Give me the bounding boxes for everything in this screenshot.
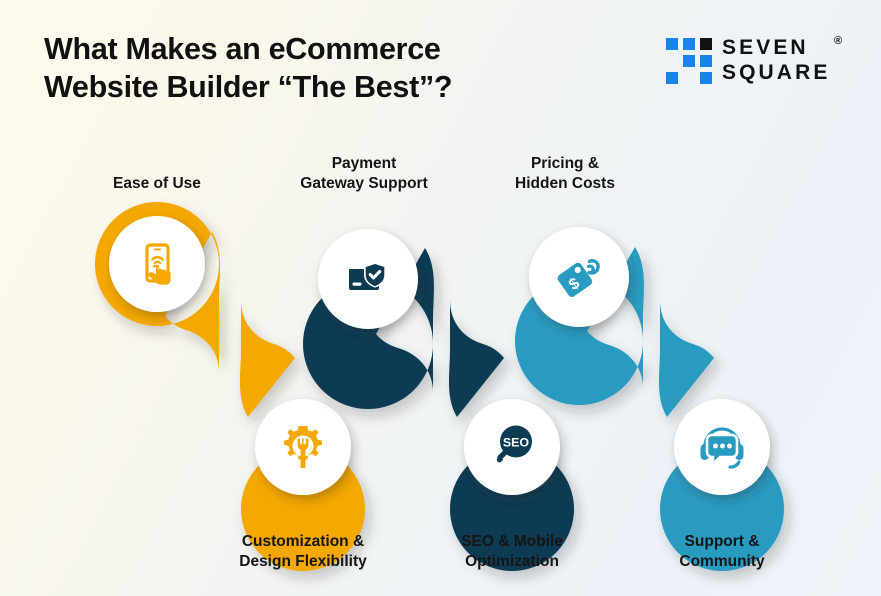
logo-square-3 bbox=[683, 55, 695, 67]
label-support: Support & Community bbox=[642, 532, 802, 572]
label-pricing: Pricing & Hidden Costs bbox=[484, 154, 646, 194]
brand-logo: SEVEN SQUARE ® bbox=[666, 35, 846, 90]
price-tag-dollar-icon: $ bbox=[549, 247, 609, 307]
logo-square-6 bbox=[700, 72, 712, 84]
header: What Makes an eCommerce Website Builder … bbox=[0, 0, 881, 120]
page-title: What Makes an eCommerce Website Builder … bbox=[44, 30, 564, 106]
card-shield-check-icon bbox=[338, 249, 398, 309]
label-ease-of-use: Ease of Use bbox=[77, 174, 237, 194]
logo-wordmark: SEVEN SQUARE bbox=[722, 35, 852, 87]
headset-chat-icon bbox=[692, 417, 752, 477]
label-customization: Customization & Design Flexibility bbox=[203, 532, 403, 572]
logo-square-1 bbox=[683, 38, 695, 50]
logo-square-2 bbox=[700, 38, 712, 50]
seo-icon-text: SEO bbox=[503, 436, 530, 450]
infographic-canvas: What Makes an eCommerce Website Builder … bbox=[0, 0, 881, 596]
logo-word-seven: SEVEN bbox=[722, 35, 852, 60]
logo-word-square: SQUARE bbox=[722, 60, 852, 85]
logo-square-0 bbox=[666, 38, 678, 50]
touch-phone-icon bbox=[127, 234, 187, 294]
registered-trademark-icon: ® bbox=[834, 35, 842, 47]
logo-grid-icon bbox=[666, 38, 712, 84]
label-seo-mobile: SEO & Mobile Optimization bbox=[427, 532, 597, 572]
gear-wrench-icon bbox=[273, 417, 333, 477]
logo-square-4 bbox=[700, 55, 712, 67]
seo-magnifier-icon: SEO bbox=[482, 417, 542, 477]
label-payment-gateway: Payment Gateway Support bbox=[268, 154, 460, 194]
logo-square-5 bbox=[666, 72, 678, 84]
